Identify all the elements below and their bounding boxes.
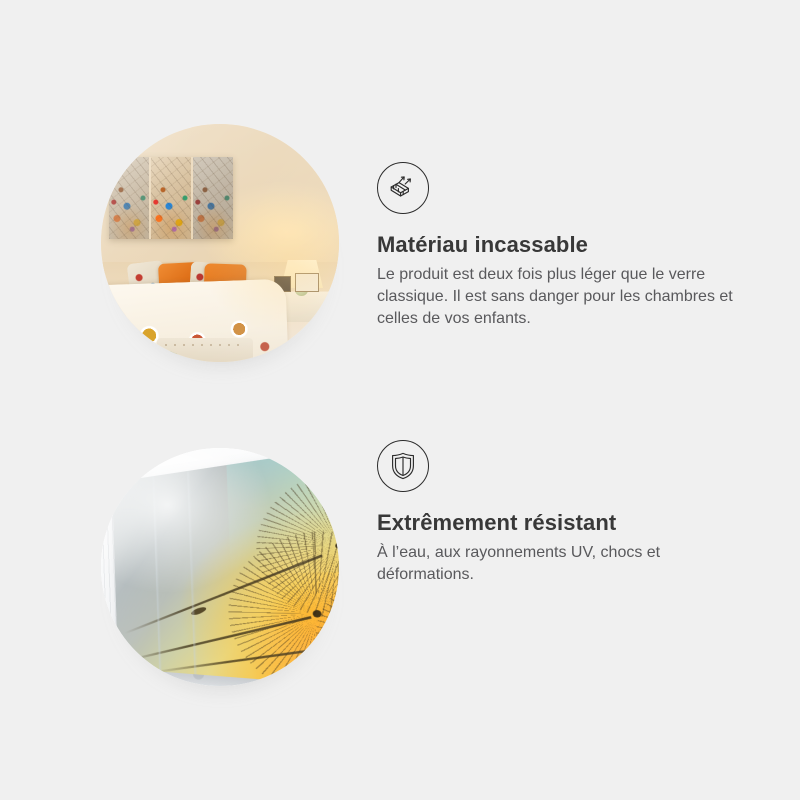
product-photo-1-wrapper	[101, 124, 339, 362]
shield-icon	[377, 440, 429, 492]
feature-1-copy: Matériau incassable Le produit est deux …	[377, 162, 767, 330]
art-panel-left	[109, 157, 149, 239]
product-photo-2-wrapper	[101, 448, 339, 686]
art-panel-right	[193, 157, 233, 239]
art-panel-center	[151, 157, 191, 239]
feature-2-copy: Extrêmement résistant À l’eau, aux rayon…	[377, 440, 767, 586]
feature-block-1: Matériau incassable Le produit est deux …	[0, 110, 800, 410]
bed-footboard	[157, 338, 253, 362]
feature-1-title: Matériau incassable	[377, 232, 767, 258]
bedroom-triptych-wall-art-photo	[101, 124, 339, 362]
feature-2-description: À l’eau, aux rayonnements UV, chocs et d…	[377, 542, 743, 586]
glass-print-panel	[112, 448, 339, 686]
product-features-panel: Matériau incassable Le produit est deux …	[0, 0, 800, 800]
dandelion-glass-print-photo	[101, 448, 339, 686]
picture-frame-1	[295, 273, 319, 292]
bendable-material-icon	[377, 162, 429, 214]
glass-glare	[112, 448, 339, 686]
feature-1-description: Le produit est deux fois plus léger que …	[377, 264, 743, 330]
feature-block-2: Extrêmement résistant À l’eau, aux rayon…	[0, 434, 800, 734]
triptych-wall-art	[109, 157, 233, 239]
feature-2-title: Extrêmement résistant	[377, 510, 767, 536]
